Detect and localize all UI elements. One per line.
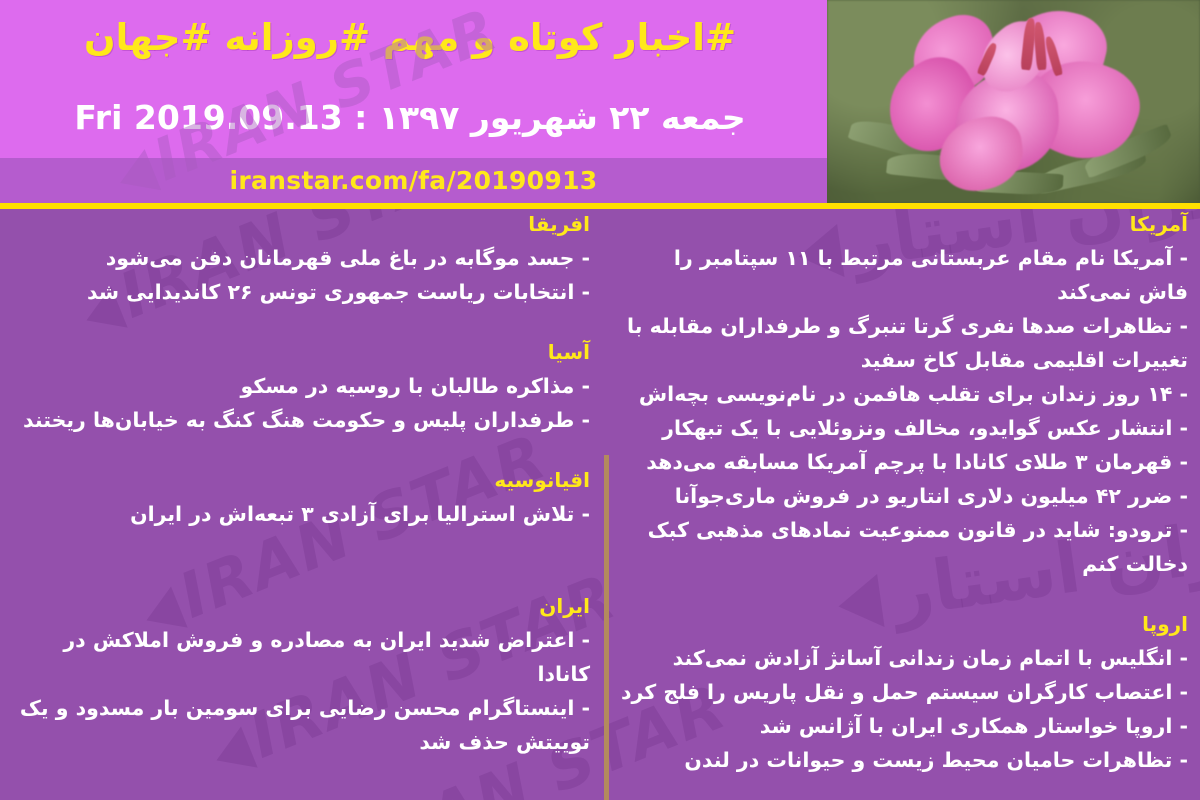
site-url[interactable]: iranstar.com/fa/20190913	[0, 166, 827, 195]
section-africa: افریقا - جسد موگابه در باغ ملی قهرمانان …	[12, 209, 590, 309]
news-item: - اینستاگرام محسن رضایی برای سومین بار م…	[12, 691, 590, 759]
section-title: اقیانوسیه	[12, 465, 590, 495]
news-item: - انگلیس با اتمام زمان زندانی آسانژ آزاد…	[618, 641, 1188, 675]
news-item: - تظاهرات حامیان محیط زیست و حیوانات در …	[618, 743, 1188, 777]
news-item: - تظاهرات صدها نفری گرتا تنبرگ و طرفدارا…	[618, 309, 1188, 377]
section-title: آمریکا	[618, 209, 1188, 239]
section-title: آسیا	[12, 337, 590, 367]
section-iran: ایران - اعتراض شدید ایران به مصادره و فر…	[12, 591, 590, 759]
flower-photo	[827, 0, 1200, 203]
section-america: آمریکا - آمریکا نام مقام عربستانی مرتبط …	[618, 209, 1188, 581]
news-item: - ترودو: شاید در قانون ممنوعیت نمادهای م…	[618, 513, 1188, 581]
news-item: - ۱۴ روز زندان برای تقلب هافمن در نام‌نو…	[618, 377, 1188, 411]
page-title: #اخبار کوتاه و مهم #روزانه #جهان	[0, 16, 820, 59]
page-date: جمعه ۲۲ شهریور ۱۳۹۷ : 2019.09.13 Fri	[0, 98, 820, 137]
news-item: - ضرر ۴۲ میلیون دلاری انتاریو در فروش ما…	[618, 479, 1188, 513]
news-item: - مذاکره طالبان با روسیه در مسکو	[12, 369, 590, 403]
news-item: - اعتراض شدید ایران به مصادره و فروش امل…	[12, 623, 590, 691]
news-item: - انتشار عکس گوایدو، مخالف ونزوئلایی با …	[618, 411, 1188, 445]
news-item: - اروپا خواستار همکاری ایران با آژانس شد	[618, 709, 1188, 743]
section-spacer	[12, 533, 590, 591]
news-item: - اعتصاب کارگران سیستم حمل و نقل پاریس ر…	[618, 675, 1188, 709]
news-item: - آمریکا نام مقام عربستانی مرتبط با ۱۱ س…	[618, 241, 1188, 309]
news-item: - جسد موگابه در باغ ملی قهرمانان دفن می‌…	[12, 241, 590, 275]
news-item: - تلاش استرالیا برای آزادی ۳ تبعه‌اش در …	[12, 497, 590, 531]
section-spacer	[12, 439, 590, 465]
section-spacer	[12, 311, 590, 337]
section-title: ایران	[12, 591, 590, 621]
section-title: افریقا	[12, 209, 590, 239]
column-left: افریقا - جسد موگابه در باغ ملی قهرمانان …	[12, 209, 590, 761]
column-right: آمریکا - آمریکا نام مقام عربستانی مرتبط …	[618, 209, 1188, 779]
section-oceania: اقیانوسیه - تلاش استرالیا برای آزادی ۳ ت…	[12, 465, 590, 531]
news-item: - قهرمان ۳ طلای کانادا با پرچم آمریکا مس…	[618, 445, 1188, 479]
section-spacer	[618, 583, 1188, 609]
column-divider	[604, 455, 609, 800]
news-item: - انتخابات ریاست جمهوری تونس ۲۶ کاندیدای…	[12, 275, 590, 309]
news-body: IRAN STAR IRAN STAR IRAN STAR IRAN STAR …	[0, 209, 1200, 800]
section-europe: اروپا - انگلیس با اتمام زمان زندانی آسان…	[618, 609, 1188, 777]
news-poster: IRAN STAR #اخبار کوتاه و مهم #روزانه #جه…	[0, 0, 1200, 800]
section-title: اروپا	[618, 609, 1188, 639]
section-asia: آسیا - مذاکره طالبان با روسیه در مسکو - …	[12, 337, 590, 437]
news-item: - طرفداران پلیس و حکومت هنگ کنگ به خیابا…	[12, 403, 590, 437]
